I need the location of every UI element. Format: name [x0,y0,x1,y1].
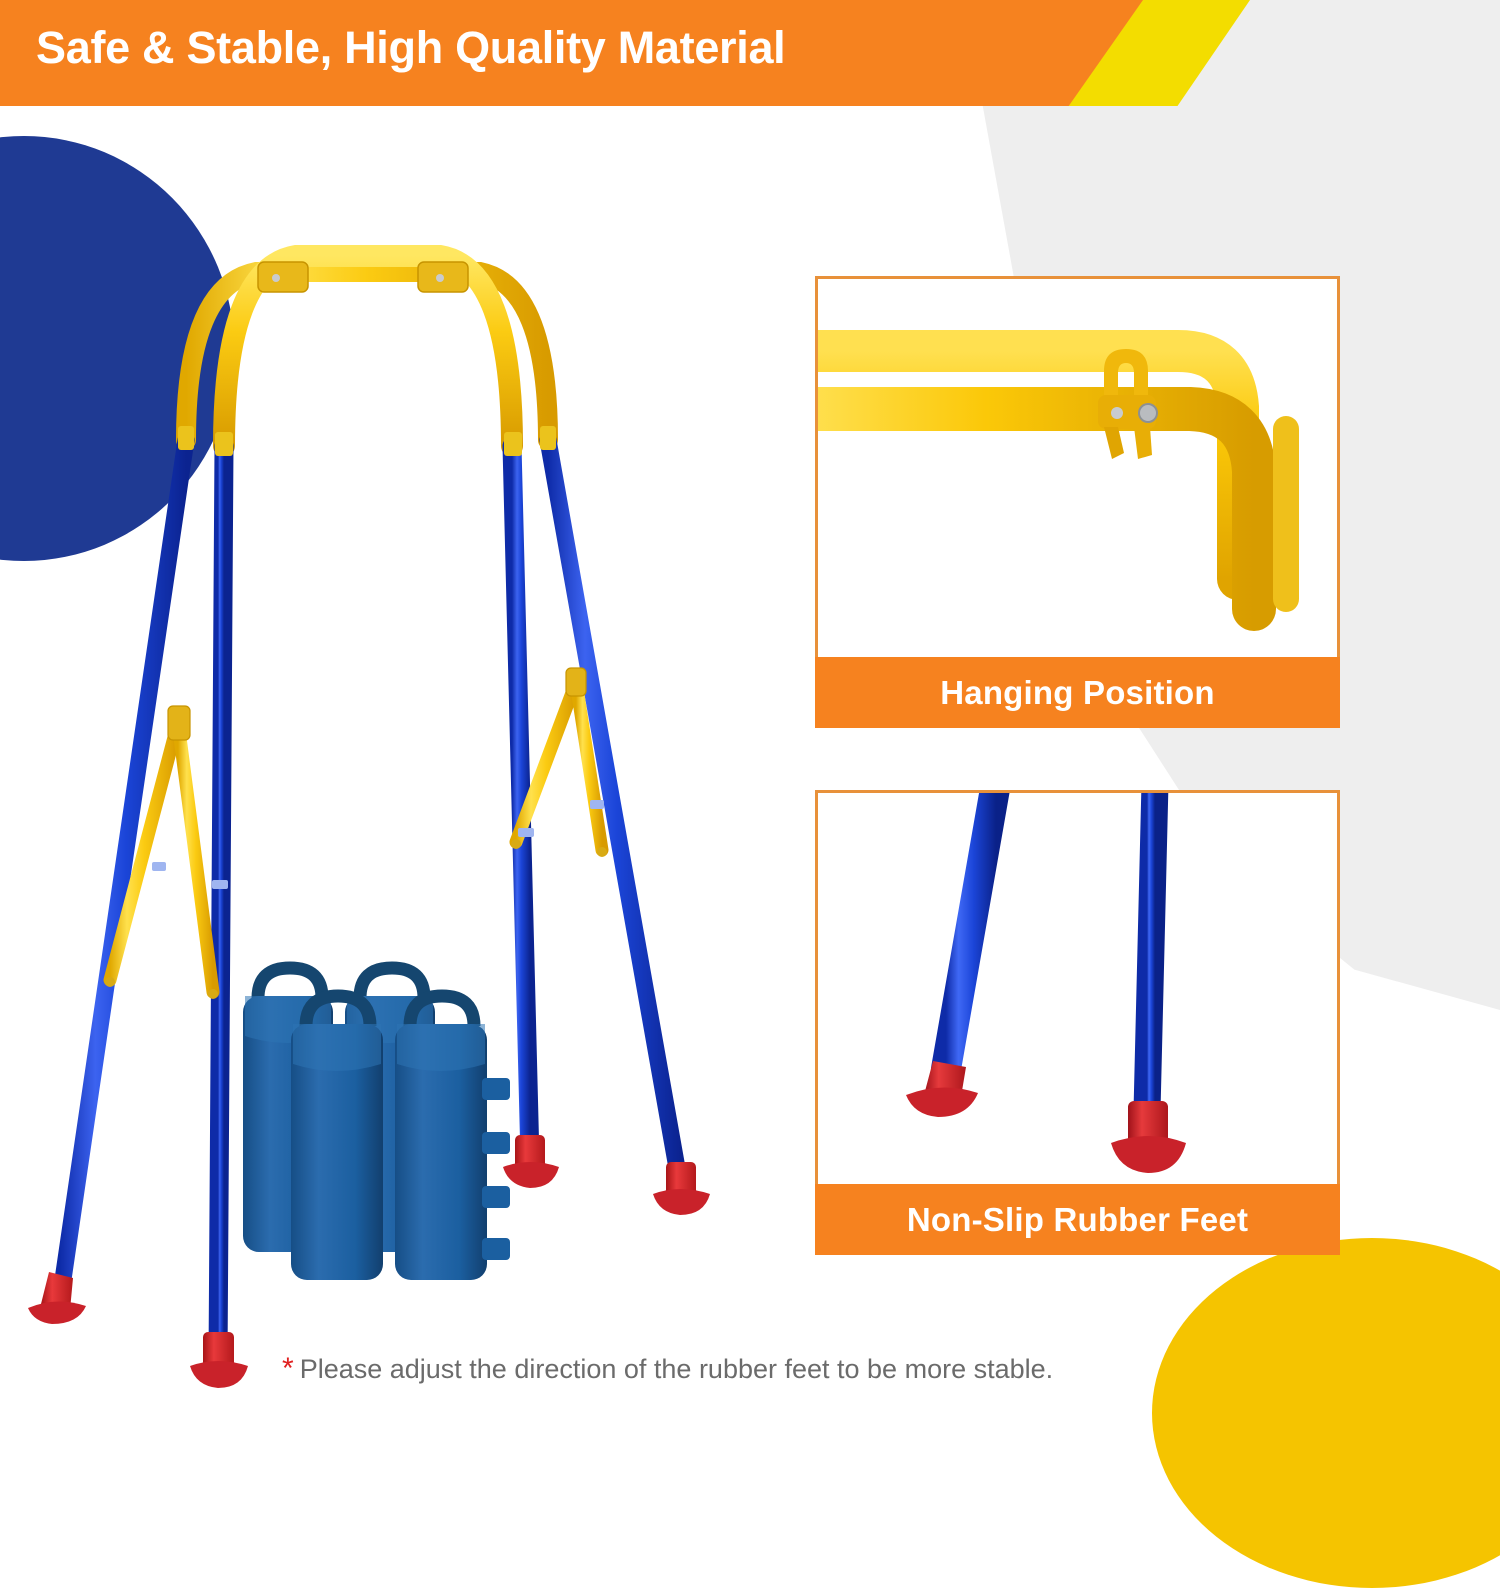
rubber-foot-front-right [503,1135,559,1188]
header-banner: Safe & Stable, High Quality Material [0,0,1250,106]
callout-card-rubber-feet[interactable]: Non-Slip Rubber Feet [815,790,1340,1255]
sandbag-4 [395,996,510,1280]
footnote-asterisk: * [282,1352,294,1385]
product-image [0,110,790,1400]
hanging-position-caption: Hanging Position [815,657,1340,728]
background-yellow-circle [1152,1238,1500,1588]
rubber-foot-rear-left [28,1272,86,1324]
footnote: *Please adjust the direction of the rubb… [282,1352,1053,1386]
rubber-foot-left [906,1061,978,1117]
sandbag-group [243,968,510,1280]
footnote-text: Please adjust the direction of the rubbe… [300,1354,1053,1384]
hanging-bracket-right [418,262,468,292]
rubber-feet-caption: Non-Slip Rubber Feet [815,1184,1340,1255]
sandbag-2 [291,996,383,1280]
callout-card-hanging-position[interactable]: Hanging Position [815,276,1340,728]
rubber-foot-right [1111,1101,1186,1173]
page-title: Safe & Stable, High Quality Material [36,22,785,74]
rubber-foot-front-left [190,1332,248,1388]
product-swing-frame-svg [0,110,790,1400]
rubber-foot-rear-right [653,1162,710,1215]
hanging-bracket-left [258,262,308,292]
